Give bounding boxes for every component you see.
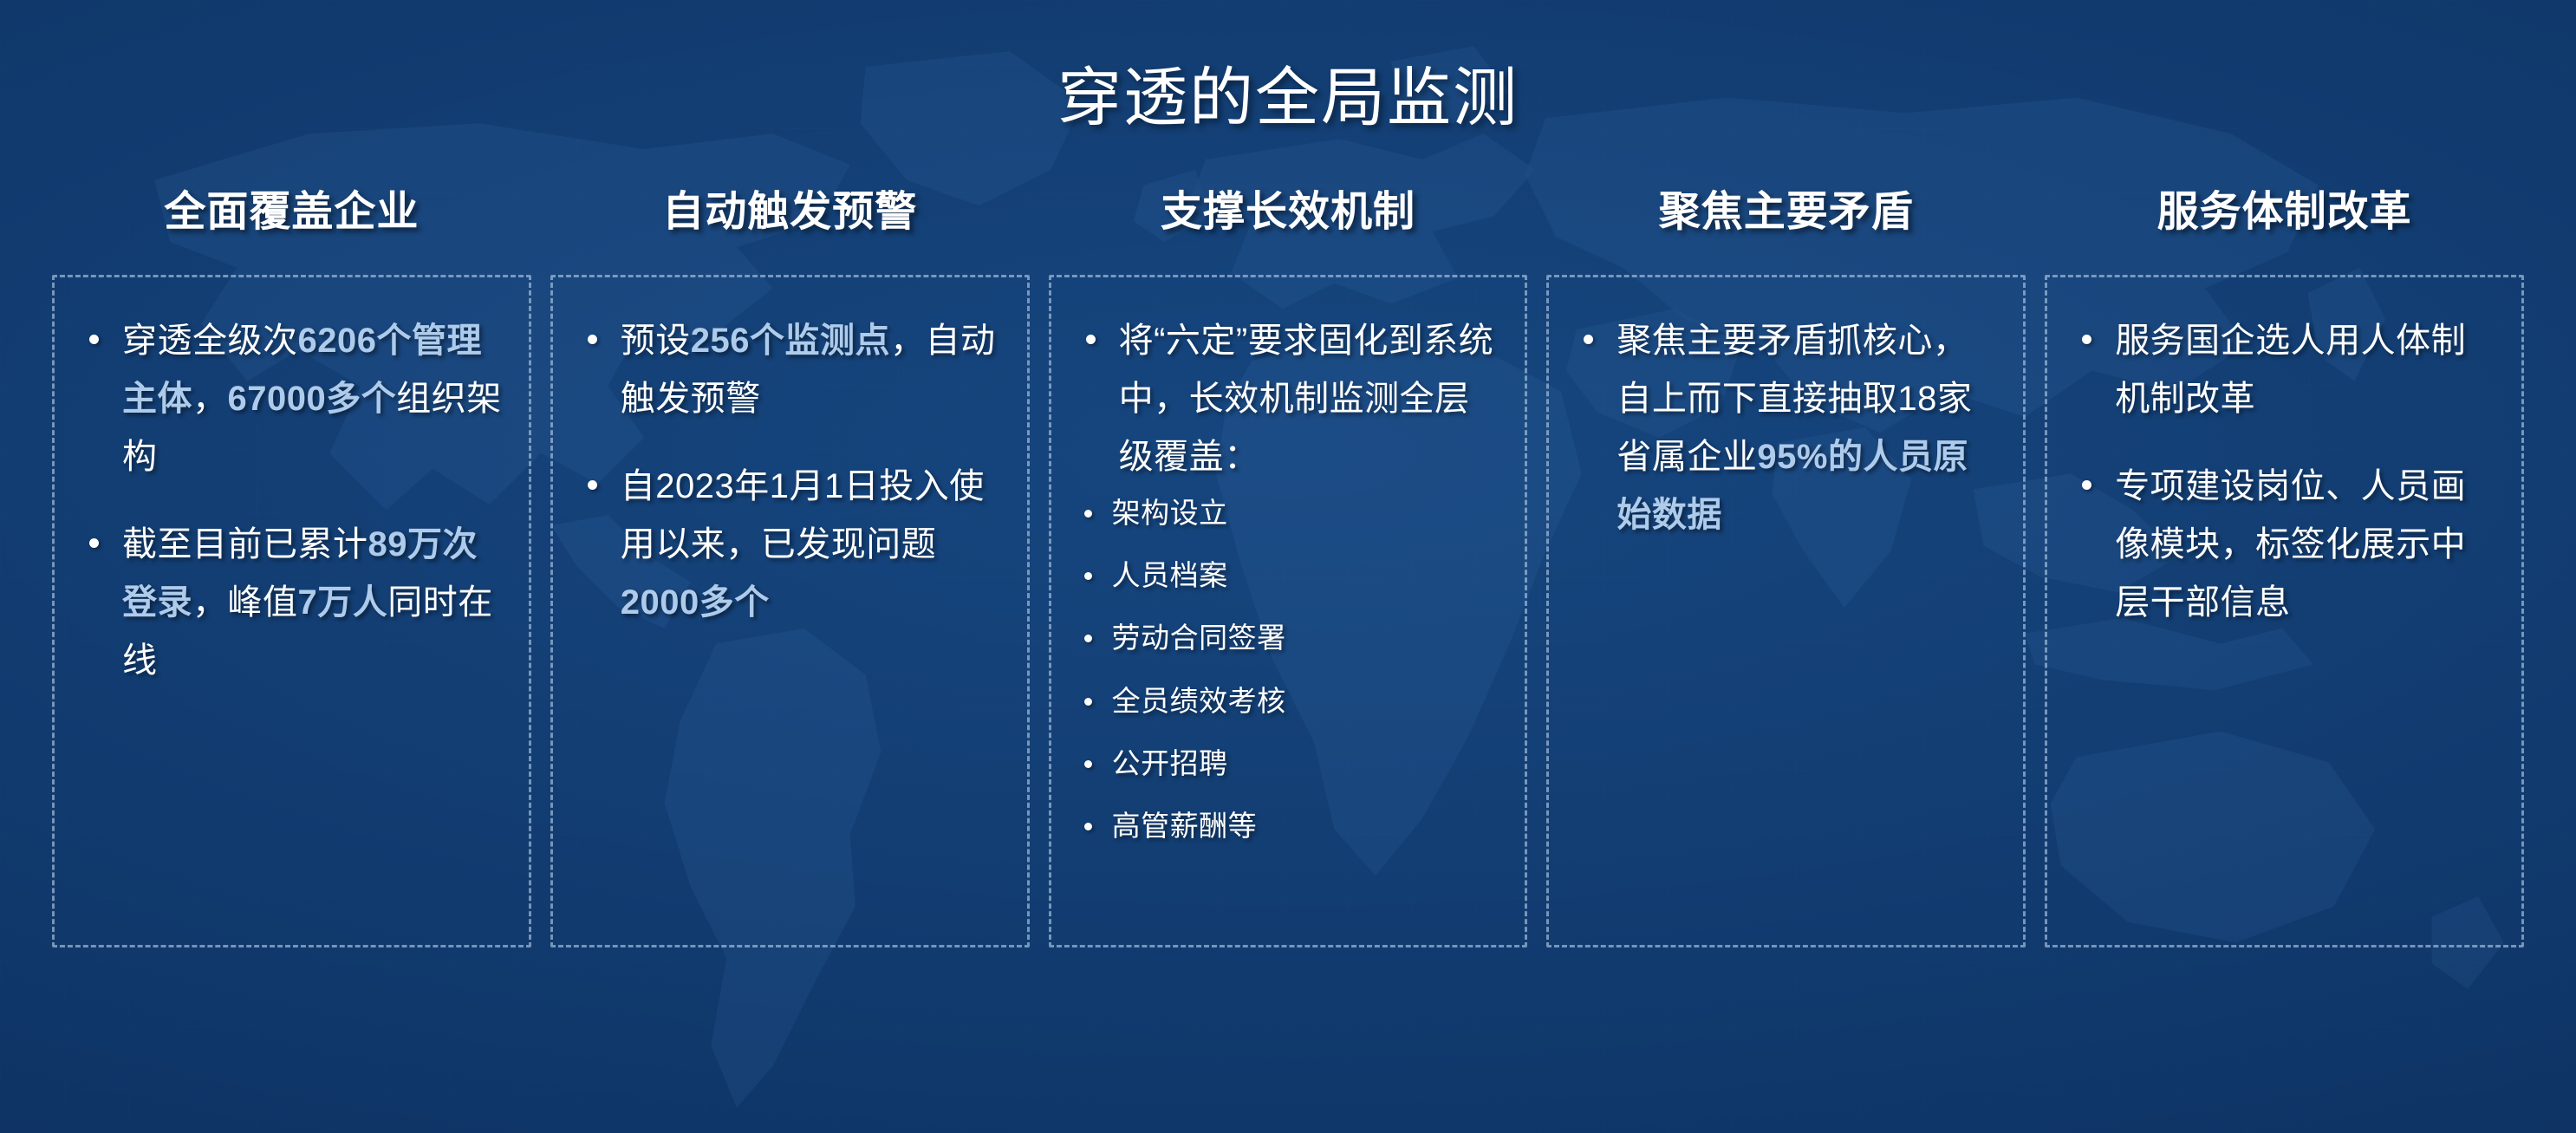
sub-bullet-item: 全员绩效考核: [1070, 681, 1503, 721]
bullet-text: 服务国企选人用人体制机制改革: [2115, 322, 2466, 418]
bullet-highlight: 256个监测点: [691, 322, 890, 360]
bullet-item: 将“六定”要求固化到系统中，长效机制监测全层级覆盖：: [1070, 312, 1503, 487]
column-3-box: 将“六定”要求固化到系统中，长效机制监测全层级覆盖： 架构设立人员档案劳动合同签…: [1049, 275, 1528, 947]
bullet-text: 预设: [621, 322, 691, 360]
column-1: 全面覆盖企业 穿透全级次6206个管理主体，67000多个组织架构截至目前已累计…: [52, 187, 531, 947]
sub-bullet-item: 劳动合同签署: [1070, 618, 1503, 658]
column-2-header: 自动触发预警: [550, 187, 1030, 238]
bullet-highlight: 2000多个: [621, 583, 770, 622]
page-title: 穿透的全局监测: [0, 55, 2576, 140]
column-2-bullet-list: 预设256个监测点，自动触发预警自2023年1月1日投入使用以来，已发现问题20…: [572, 312, 1005, 633]
sub-bullet-item: 架构设立: [1070, 493, 1503, 533]
bullet-item: 专项建设岗位、人员画像模块，标签化展示中层干部信息: [2066, 458, 2499, 633]
sub-bullet-item: 人员档案: [1070, 556, 1503, 596]
column-4: 聚焦主要矛盾 聚焦主要矛盾抓核心，自上而下直接抽取18家省属企业95%的人员原始…: [1546, 187, 2026, 947]
column-4-bullet-list: 聚焦主要矛盾抓核心，自上而下直接抽取18家省属企业95%的人员原始数据: [1568, 312, 2000, 545]
slide-canvas: 穿透的全局监测 全面覆盖企业 穿透全级次6206个管理主体，67000多个组织架…: [0, 0, 2576, 1133]
bullet-text: 截至目前已累计: [122, 525, 368, 563]
sub-bullet-item: 高管薪酬等: [1070, 806, 1503, 846]
column-2-box: 预设256个监测点，自动触发预警自2023年1月1日投入使用以来，已发现问题20…: [550, 275, 1030, 947]
bullet-item: 服务国企选人用人体制机制改革: [2066, 312, 2499, 428]
bullet-text: 穿透全级次: [122, 322, 298, 360]
sub-bullet-item: 公开招聘: [1070, 744, 1503, 784]
column-3-subbullet-list: 架构设立人员档案劳动合同签署全员绩效考核公开招聘高管薪酬等: [1070, 493, 1503, 846]
columns-container: 全面覆盖企业 穿透全级次6206个管理主体，67000多个组织架构截至目前已累计…: [52, 187, 2524, 947]
column-5: 服务体制改革 服务国企选人用人体制机制改革专项建设岗位、人员画像模块，标签化展示…: [2045, 187, 2524, 947]
column-3-bullet-list: 将“六定”要求固化到系统中，长效机制监测全层级覆盖：: [1070, 312, 1503, 487]
bullet-highlight: 7万人: [298, 583, 388, 622]
bullet-text: 自2023年1月1日投入使用以来，已发现问题: [621, 467, 985, 563]
column-3-header: 支撑长效机制: [1049, 187, 1528, 238]
column-4-header: 聚焦主要矛盾: [1546, 187, 2026, 238]
bullet-item: 聚焦主要矛盾抓核心，自上而下直接抽取18家省属企业95%的人员原始数据: [1568, 312, 2000, 545]
bullet-text: ，峰值: [192, 583, 298, 622]
bullet-item: 预设256个监测点，自动触发预警: [572, 312, 1005, 428]
bullet-text: 将“六定”要求固化到系统中，长效机制监测全层级覆盖：: [1119, 322, 1494, 476]
bullet-text: 专项建设岗位、人员画像模块，标签化展示中层干部信息: [2115, 467, 2466, 622]
column-1-bullet-list: 穿透全级次6206个管理主体，67000多个组织架构截至目前已累计89万次登录，…: [74, 312, 506, 691]
bullet-highlight: 67000多个: [228, 380, 397, 418]
bullet-item: 截至目前已累计89万次登录，峰值7万人同时在线: [74, 516, 506, 691]
column-1-header: 全面覆盖企业: [52, 187, 531, 238]
column-5-bullet-list: 服务国企选人用人体制机制改革专项建设岗位、人员画像模块，标签化展示中层干部信息: [2066, 312, 2499, 633]
bullet-item: 穿透全级次6206个管理主体，67000多个组织架构: [74, 312, 506, 487]
column-5-box: 服务国企选人用人体制机制改革专项建设岗位、人员画像模块，标签化展示中层干部信息: [2045, 275, 2524, 947]
column-2: 自动触发预警 预设256个监测点，自动触发预警自2023年1月1日投入使用以来，…: [550, 187, 1030, 947]
column-5-header: 服务体制改革: [2045, 187, 2524, 238]
column-4-box: 聚焦主要矛盾抓核心，自上而下直接抽取18家省属企业95%的人员原始数据: [1546, 275, 2026, 947]
bullet-item: 自2023年1月1日投入使用以来，已发现问题2000多个: [572, 458, 1005, 633]
bullet-text: ，: [192, 380, 228, 418]
column-3: 支撑长效机制 将“六定”要求固化到系统中，长效机制监测全层级覆盖： 架构设立人员…: [1049, 187, 1528, 947]
column-1-box: 穿透全级次6206个管理主体，67000多个组织架构截至目前已累计89万次登录，…: [52, 275, 531, 947]
